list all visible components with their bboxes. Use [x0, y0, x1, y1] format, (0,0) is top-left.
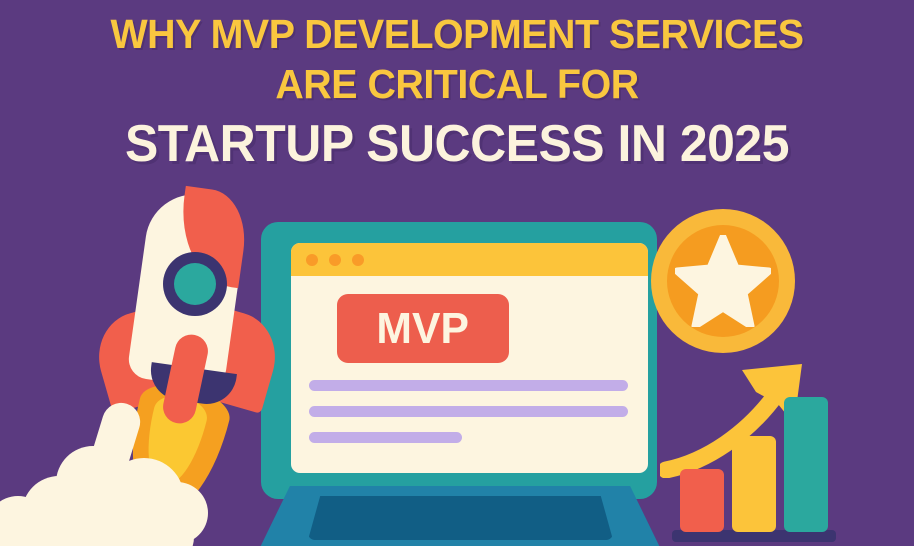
rocket-icon	[95, 190, 295, 420]
laptop-illustration: MVP	[250, 222, 670, 546]
headline-line-1: WHY MVP DEVELOPMENT SERVICES	[18, 14, 895, 55]
mvp-badge: MVP	[337, 294, 509, 363]
browser-content: MVP	[291, 276, 648, 473]
star-coin-icon	[651, 209, 795, 353]
star-icon	[675, 235, 771, 327]
laptop-lid: MVP	[261, 222, 657, 499]
placeholder-text-line-2	[309, 406, 628, 417]
chart-bar-1	[680, 469, 724, 532]
headline-line-3: STARTUP SUCCESS IN 2025	[18, 118, 895, 170]
mvp-badge-label: MVP	[377, 304, 469, 354]
chart-bar-3	[784, 397, 828, 532]
placeholder-text-line-1	[309, 380, 628, 391]
window-dot-minimize-icon[interactable]	[329, 254, 341, 266]
growth-chart-illustration	[660, 358, 914, 546]
browser-titlebar	[291, 243, 648, 276]
window-dot-maximize-icon[interactable]	[352, 254, 364, 266]
page-title: WHY MVP DEVELOPMENT SERVICES ARE CRITICA…	[0, 0, 914, 170]
laptop-keyboard	[308, 496, 613, 540]
banner-canvas: WHY MVP DEVELOPMENT SERVICES ARE CRITICA…	[0, 0, 914, 546]
rocket-smoke-cloud	[0, 420, 260, 546]
smoke-base	[14, 506, 194, 546]
chart-bar-2	[732, 436, 776, 532]
rocket-porthole-glass	[174, 263, 216, 305]
browser-window: MVP	[291, 243, 648, 473]
headline-line-2: ARE CRITICAL FOR	[18, 64, 895, 105]
window-dot-close-icon[interactable]	[306, 254, 318, 266]
placeholder-text-line-3	[309, 432, 462, 443]
